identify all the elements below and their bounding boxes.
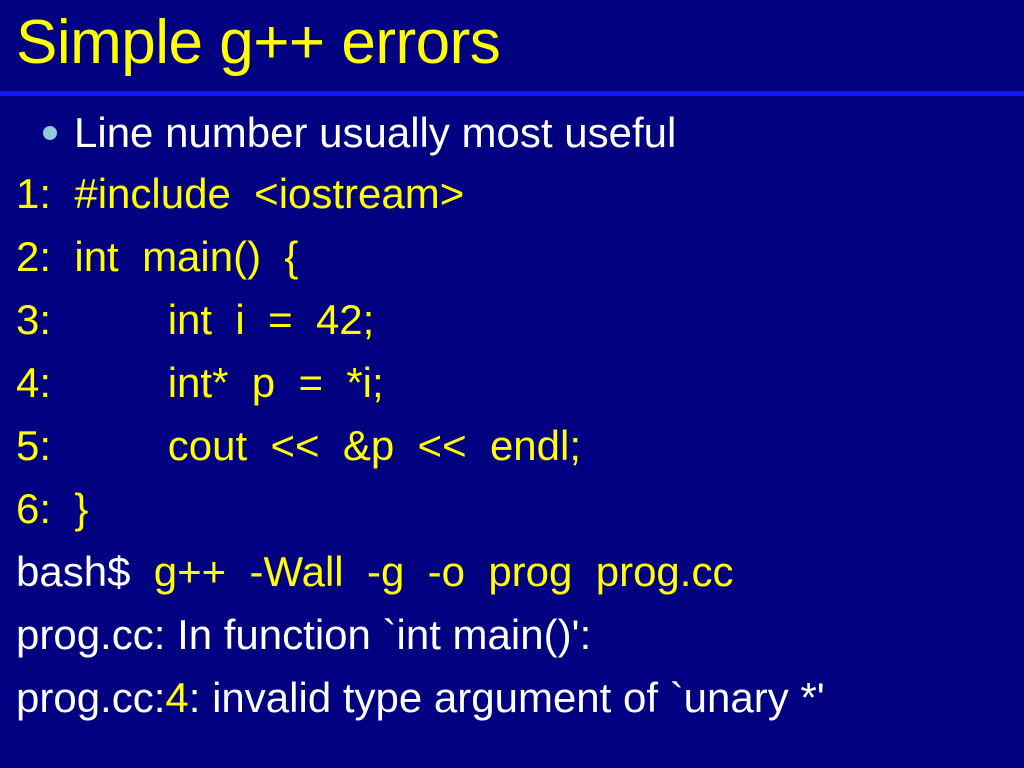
code-line-text: cout << &p << endl;	[51, 422, 581, 469]
slide-title-area: Simple g++ errors	[0, 0, 1024, 91]
terminal-transcript: bash$ g++ -Wall -g -o prog prog.cc prog.…	[16, 540, 1024, 729]
shell-command: g++ -Wall -g -o prog prog.cc	[130, 548, 733, 595]
code-line: 1: #include <iostream>	[16, 162, 1024, 225]
code-line: 5: cout << &p << endl;	[16, 414, 1024, 477]
error-line-number: 4	[165, 674, 188, 721]
list-item: Line number usually most useful	[16, 104, 1006, 162]
code-line-text: int i = 42;	[51, 296, 374, 343]
code-line: 4: int* p = *i;	[16, 351, 1024, 414]
shell-prompt: bash$	[16, 548, 130, 595]
slide: Simple g++ errors Line number usually mo…	[0, 0, 1024, 768]
terminal-command-line: bash$ g++ -Wall -g -o prog prog.cc	[16, 540, 1024, 603]
slide-body: Line number usually most useful 1: #incl…	[0, 96, 1024, 768]
code-line-text: int* p = *i;	[51, 359, 384, 406]
code-line: 2: int main() {	[16, 225, 1024, 288]
code-listing: 1: #include <iostream> 2: int main() { 3…	[16, 162, 1024, 540]
error-message: : invalid type argument of `unary *'	[189, 674, 825, 721]
code-line-number: 2:	[16, 233, 51, 280]
compiler-output-line: prog.cc: In function `int main()':	[16, 603, 1024, 666]
code-line-number: 4:	[16, 359, 51, 406]
compiler-output-text: prog.cc: In function `int main()':	[16, 611, 591, 658]
compiler-error-line: prog.cc:4: invalid type argument of `una…	[16, 666, 1024, 729]
code-line-number: 3:	[16, 296, 51, 343]
code-line-text: }	[51, 485, 88, 532]
code-line-number: 5:	[16, 422, 51, 469]
code-line-number: 6:	[16, 485, 51, 532]
code-line: 3: int i = 42;	[16, 288, 1024, 351]
code-line-text: int main() {	[51, 233, 298, 280]
page-title: Simple g++ errors	[16, 6, 500, 80]
error-file-prefix: prog.cc:	[16, 674, 165, 721]
code-line: 6: }	[16, 477, 1024, 540]
bullet-dot-icon	[43, 126, 57, 140]
code-line-text: #include <iostream>	[51, 170, 464, 217]
code-line-number: 1:	[16, 170, 51, 217]
bullet-item-label: Line number usually most useful	[74, 108, 676, 158]
